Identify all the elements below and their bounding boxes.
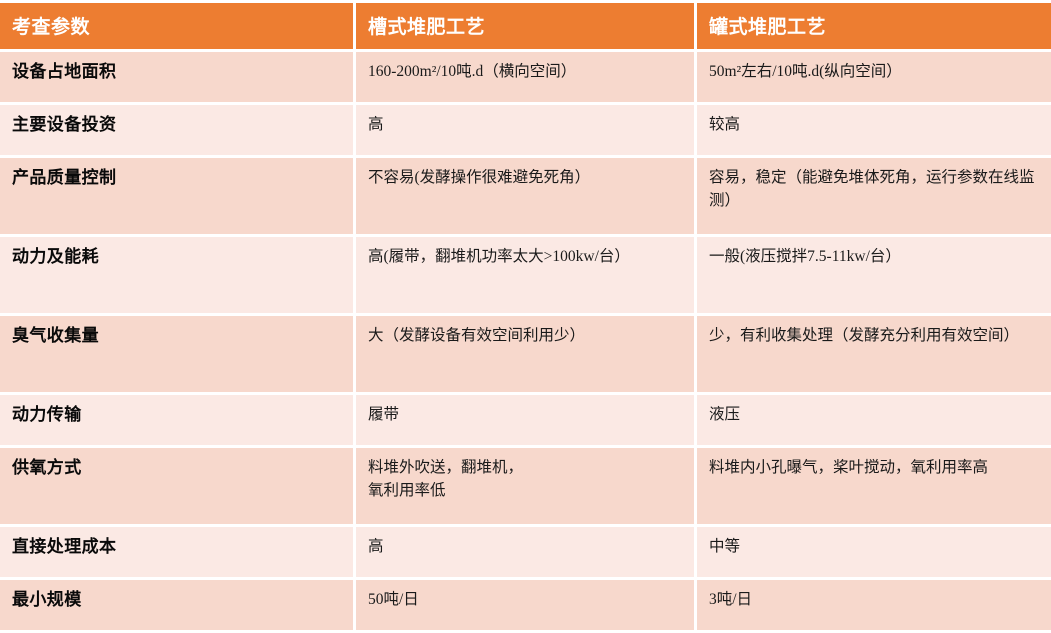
column-header-parameter: 考查参数 [0,3,356,49]
row-tank-value: 中等 [697,527,1051,577]
table-row: 臭气收集量 大（发酵设备有效空间利用少） 少，有利收集处理（发酵充分利用有效空间… [0,316,1051,392]
row-tank-value: 少，有利收集处理（发酵充分利用有效空间） [697,316,1051,392]
row-trough-value: 料堆外吹送，翻堆机， 氧利用率低 [356,448,697,524]
row-parameter-label: 设备占地面积 [0,52,356,102]
table-row: 动力及能耗 高(履带，翻堆机功率太大>100kw/台） 一般(液压搅拌7.5-1… [0,237,1051,313]
composting-comparison-table: 考查参数 槽式堆肥工艺 罐式堆肥工艺 设备占地面积 160-200m²/10吨.… [0,0,1051,633]
row-trough-value: 高 [356,105,697,155]
table-row: 产品质量控制 不容易(发酵操作很难避免死角） 容易，稳定（能避免堆体死角，运行参… [0,158,1051,234]
header-row: 考查参数 槽式堆肥工艺 罐式堆肥工艺 [0,3,1051,49]
row-trough-value: 履带 [356,395,697,445]
table-row: 主要设备投资 高 较高 [0,105,1051,155]
comparison-table-container: 考查参数 槽式堆肥工艺 罐式堆肥工艺 设备占地面积 160-200m²/10吨.… [0,0,1051,530]
table-row: 直接处理成本 高 中等 [0,527,1051,577]
row-trough-value: 50吨/日 [356,580,697,630]
table-row: 供氧方式 料堆外吹送，翻堆机， 氧利用率低 料堆内小孔曝气，桨叶搅动，氧利用率高 [0,448,1051,524]
row-parameter-label: 主要设备投资 [0,105,356,155]
row-parameter-label: 直接处理成本 [0,527,356,577]
row-tank-value: 料堆内小孔曝气，桨叶搅动，氧利用率高 [697,448,1051,524]
table-body: 设备占地面积 160-200m²/10吨.d（横向空间） 50m²左右/10吨.… [0,52,1051,630]
table-row: 动力传输 履带 液压 [0,395,1051,445]
row-parameter-label: 供氧方式 [0,448,356,524]
row-tank-value: 液压 [697,395,1051,445]
row-trough-value: 不容易(发酵操作很难避免死角） [356,158,697,234]
row-parameter-label: 动力及能耗 [0,237,356,313]
row-tank-value: 50m²左右/10吨.d(纵向空间） [697,52,1051,102]
column-header-trough: 槽式堆肥工艺 [356,3,697,49]
row-tank-value: 较高 [697,105,1051,155]
column-header-tank: 罐式堆肥工艺 [697,3,1051,49]
row-tank-value: 一般(液压搅拌7.5-11kw/台） [697,237,1051,313]
row-parameter-label: 最小规模 [0,580,356,630]
row-parameter-label: 臭气收集量 [0,316,356,392]
table-row: 最小规模 50吨/日 3吨/日 [0,580,1051,630]
row-trough-value: 大（发酵设备有效空间利用少） [356,316,697,392]
row-tank-value: 3吨/日 [697,580,1051,630]
row-parameter-label: 动力传输 [0,395,356,445]
table-header: 考查参数 槽式堆肥工艺 罐式堆肥工艺 [0,3,1051,49]
row-parameter-label: 产品质量控制 [0,158,356,234]
row-trough-value: 160-200m²/10吨.d（横向空间） [356,52,697,102]
row-tank-value: 容易，稳定（能避免堆体死角，运行参数在线监测） [697,158,1051,234]
row-trough-value: 高(履带，翻堆机功率太大>100kw/台） [356,237,697,313]
row-trough-value: 高 [356,527,697,577]
table-row: 设备占地面积 160-200m²/10吨.d（横向空间） 50m²左右/10吨.… [0,52,1051,102]
